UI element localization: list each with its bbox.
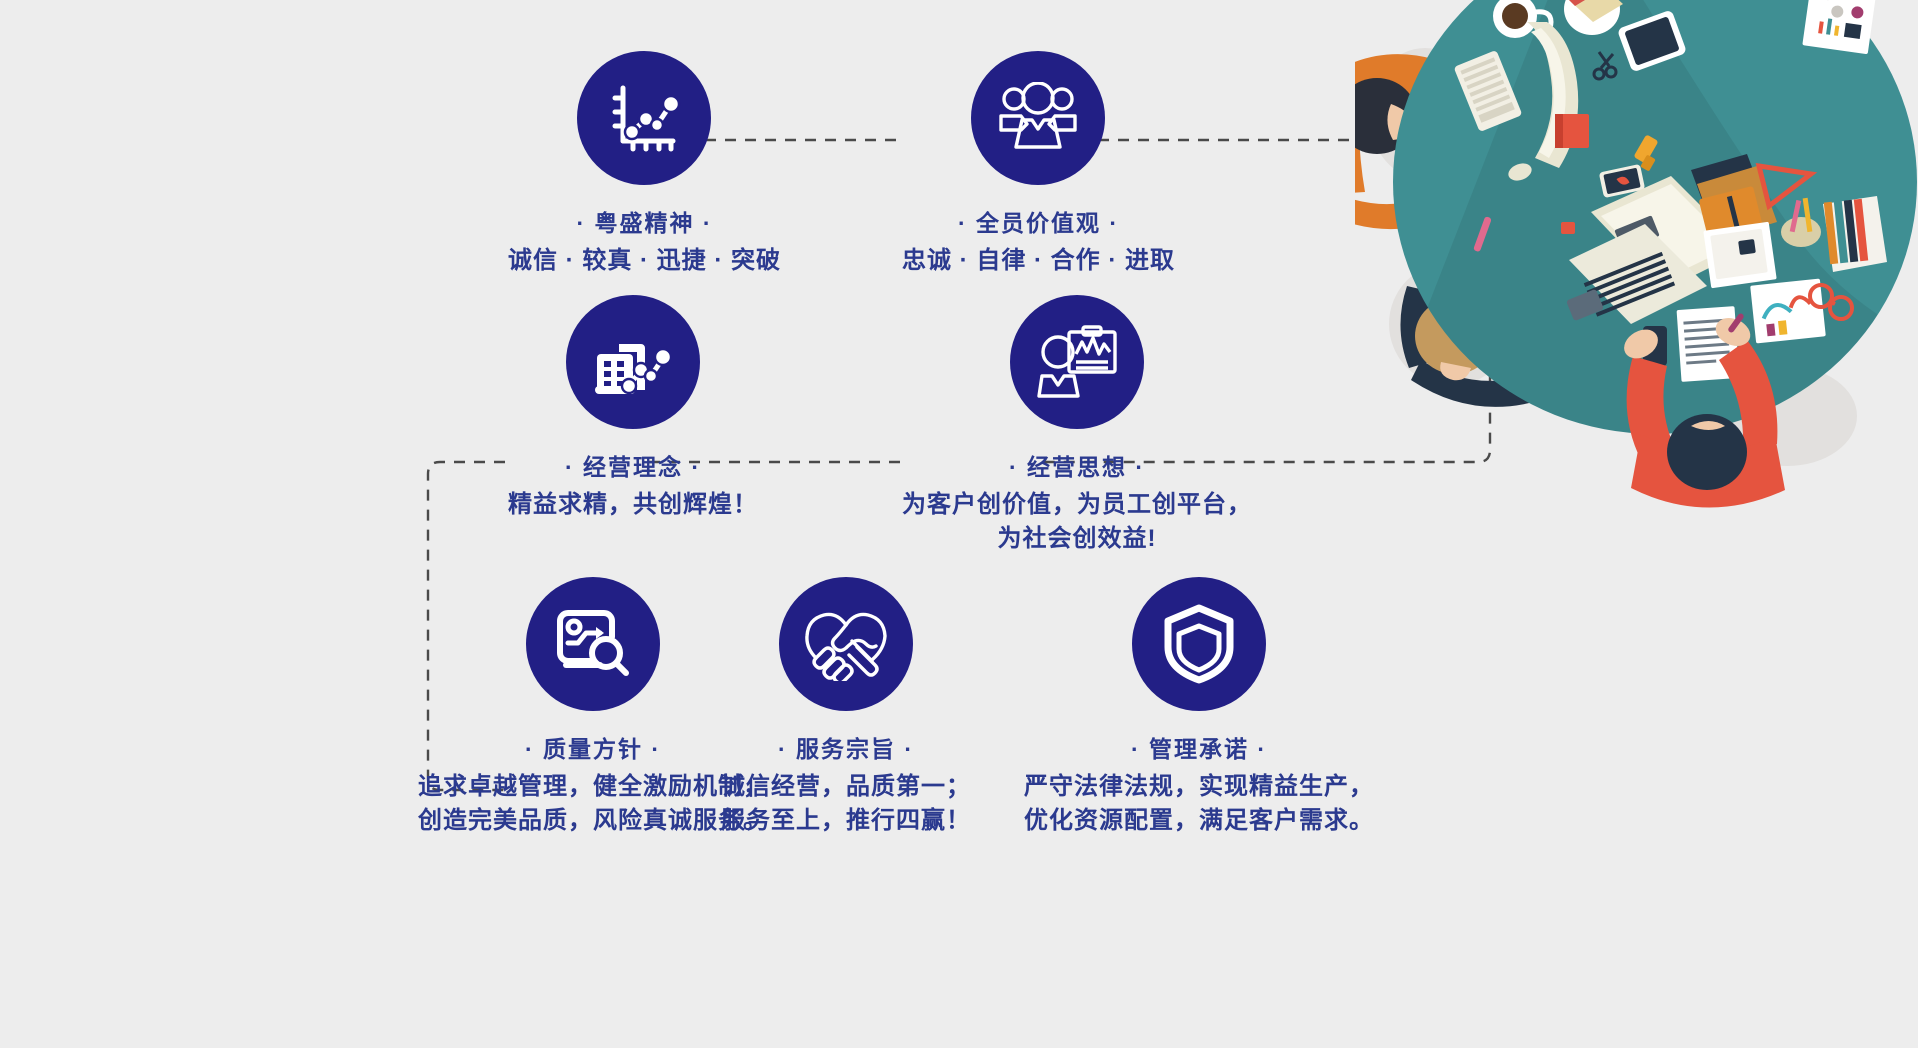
presenter-board-icon bbox=[1036, 324, 1118, 400]
node-title: · 管理承诺 · bbox=[1024, 733, 1374, 766]
paper-stack bbox=[1703, 222, 1776, 289]
node-title: · 经营思想 · bbox=[902, 451, 1252, 484]
node-desc: 诚信经营，品质第一； 服务至上，推行四赢！ bbox=[721, 770, 971, 838]
node-desc: 严守法律法规，实现精益生产， 优化资源配置，满足客户需求。 bbox=[1024, 770, 1374, 838]
node-quality[interactable]: · 质量方针 · 追求卓越管理，健全激励机制， 创造完美品质，风险真诚服务。 bbox=[418, 577, 768, 838]
inspection-search-icon bbox=[554, 605, 632, 683]
magazine-rack bbox=[1823, 196, 1887, 272]
desc-line: 严守法律法规，实现精益生产， bbox=[1024, 770, 1374, 804]
node-desc: 为客户创价值，为员工创平台， 为社会创效益! bbox=[902, 488, 1252, 556]
heart-handshake-icon bbox=[805, 607, 887, 681]
labels-philosophy: · 经营理念 · 精益求精，共创辉煌！ bbox=[508, 451, 758, 522]
desc-line: 精益求精，共创辉煌！ bbox=[508, 488, 758, 522]
desc-line: 为社会创效益! bbox=[902, 522, 1252, 556]
node-desc: 诚信 · 较真 · 迅捷 · 突破 bbox=[508, 244, 781, 278]
badge-commitment[interactable] bbox=[1132, 577, 1266, 711]
node-thinking[interactable]: · 经营思想 · 为客户创价值，为员工创平台， 为社会创效益! bbox=[902, 295, 1252, 556]
labels-spirit: · 粤盛精神 · 诚信 · 较真 · 迅捷 · 突破 bbox=[508, 207, 781, 278]
node-title: · 粤盛精神 · bbox=[508, 207, 781, 240]
sticky-notes bbox=[1561, 222, 1575, 234]
desc-line: 创造完美品质，风险真诚服务。 bbox=[418, 804, 768, 838]
badge-quality[interactable] bbox=[526, 577, 660, 711]
node-service[interactable]: · 服务宗旨 · 诚信经营，品质第一； 服务至上，推行四赢！ bbox=[721, 577, 971, 838]
node-desc: 追求卓越管理，健全激励机制， 创造完美品质，风险真诚服务。 bbox=[418, 770, 768, 838]
badge-values[interactable] bbox=[971, 51, 1105, 185]
node-title: · 全员价值观 · bbox=[902, 207, 1175, 240]
node-desc: 忠诚 · 自律 · 合作 · 进取 bbox=[902, 244, 1175, 278]
node-desc: 精益求精，共创辉煌！ bbox=[508, 488, 758, 522]
team-people-icon bbox=[998, 82, 1078, 154]
red-notebook bbox=[1555, 114, 1589, 148]
desc-line: 为客户创价值，为员工创平台， bbox=[902, 488, 1252, 522]
desc-line: 追求卓越管理，健全激励机制， bbox=[418, 770, 768, 804]
desc-line: 忠诚 · 自律 · 合作 · 进取 bbox=[902, 244, 1175, 278]
desc-line: 诚信经营，品质第一； bbox=[721, 770, 971, 804]
labels-commitment: · 管理承诺 · 严守法律法规，实现精益生产， 优化资源配置，满足客户需求。 bbox=[1024, 733, 1374, 838]
node-commitment[interactable]: · 管理承诺 · 严守法律法规，实现精益生产， 优化资源配置，满足客户需求。 bbox=[1024, 577, 1374, 838]
node-title: · 质量方针 · bbox=[418, 733, 768, 766]
labels-values: · 全员价值观 · 忠诚 · 自律 · 合作 · 进取 bbox=[902, 207, 1175, 278]
labels-thinking: · 经营思想 · 为客户创价值，为员工创平台， 为社会创效益! bbox=[902, 451, 1252, 556]
desc-line: 优化资源配置，满足客户需求。 bbox=[1024, 804, 1374, 838]
badge-philosophy[interactable] bbox=[566, 295, 700, 429]
team-working-table-illustration bbox=[1355, 0, 1918, 524]
badge-spirit[interactable] bbox=[577, 51, 711, 185]
desc-line: 服务至上，推行四赢！ bbox=[721, 804, 971, 838]
labels-quality: · 质量方针 · 追求卓越管理，健全激励机制， 创造完美品质，风险真诚服务。 bbox=[418, 733, 768, 838]
node-spirit[interactable]: · 粤盛精神 · 诚信 · 较真 · 迅捷 · 突破 bbox=[508, 51, 781, 278]
desc-line: 诚信 · 较真 · 迅捷 · 突破 bbox=[508, 244, 781, 278]
line-chart-icon bbox=[605, 79, 683, 157]
node-title: · 经营理念 · bbox=[508, 451, 758, 484]
infographic-canvas: · 粤盛精神 · 诚信 · 较真 · 迅捷 · 突破 · 全员价值观 · bbox=[0, 0, 1918, 1048]
node-values[interactable]: · 全员价值观 · 忠诚 · 自律 · 合作 · 进取 bbox=[902, 51, 1175, 278]
badge-thinking[interactable] bbox=[1010, 295, 1144, 429]
node-philosophy[interactable]: · 经营理念 · 精益求精，共创辉煌！ bbox=[508, 295, 758, 522]
labels-service: · 服务宗旨 · 诚信经营，品质第一； 服务至上，推行四赢！ bbox=[721, 733, 971, 838]
buildings-growth-icon bbox=[593, 324, 673, 400]
shield-icon bbox=[1162, 604, 1236, 684]
node-title: · 服务宗旨 · bbox=[721, 733, 971, 766]
badge-service[interactable] bbox=[779, 577, 913, 711]
